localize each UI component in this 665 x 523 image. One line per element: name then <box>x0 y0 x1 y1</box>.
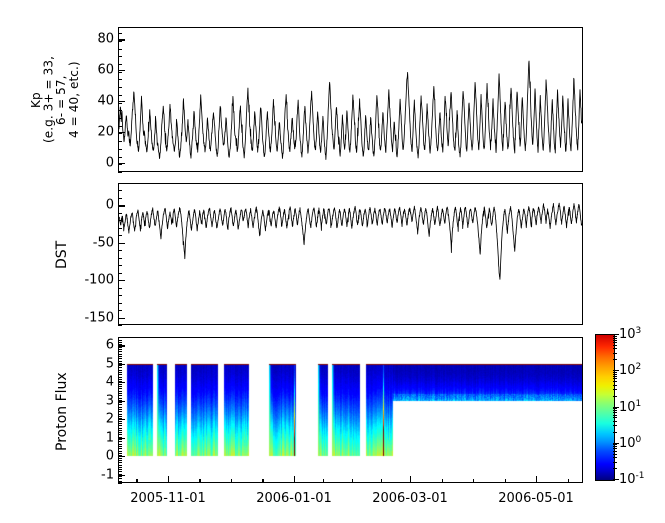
ytick-minor <box>118 110 122 111</box>
xtick-label: 2006-05-01 <box>498 491 574 506</box>
ytick-minor <box>118 103 122 104</box>
colorbar-tick-minor <box>613 385 617 386</box>
ytick-minor <box>118 198 122 199</box>
colorbar-tick-minor <box>613 340 617 341</box>
colorbar-tick-minor <box>613 359 617 360</box>
ytick-label: 2 <box>106 412 114 427</box>
proton-flux-ytick-labels: -10123456 <box>86 0 114 523</box>
xtick-mark <box>410 476 411 483</box>
ytick-minor <box>118 418 122 419</box>
figure-canvas: Kp (e.g. 3+ = 33, 6- = 57, 4 = 40, etc.)… <box>0 0 665 523</box>
colorbar-tick-minor <box>613 448 617 449</box>
ytick-minor <box>118 157 122 158</box>
ytick-minor <box>118 393 122 394</box>
ytick-label: 5 <box>106 356 114 371</box>
ytick-minor <box>118 453 122 454</box>
colorbar-tick-label: 102 <box>619 362 641 378</box>
kp-timeseries-line <box>119 28 582 171</box>
ytick-minor <box>118 303 122 304</box>
ytick-minor <box>118 358 122 359</box>
ytick-label: 6 <box>106 338 114 353</box>
colorbar-tick-minor <box>613 454 617 455</box>
ytick-minor <box>118 421 122 422</box>
ytick-minor <box>118 64 122 65</box>
ytick-minor <box>118 434 122 435</box>
colorbar-tick-minor <box>613 421 617 422</box>
ytick-minor <box>118 478 122 479</box>
colorbar-tick-minor <box>613 468 617 469</box>
xtick-label: 2006-03-01 <box>372 491 448 506</box>
colorbar-tick-minor <box>613 415 617 416</box>
ytick-minor <box>118 118 122 119</box>
ytick-minor <box>118 451 122 452</box>
ytick-minor <box>118 288 122 289</box>
colorbar-tick-minor <box>613 336 617 337</box>
ytick-minor <box>118 149 122 150</box>
colorbar-tick-minor <box>613 372 617 373</box>
ytick-minor <box>118 356 122 357</box>
ytick-minor <box>118 172 122 173</box>
ytick-label: 1 <box>106 430 114 445</box>
ytick-minor <box>118 190 122 191</box>
ytick-minor <box>118 361 122 362</box>
ytick-minor <box>118 295 122 296</box>
ytick-minor <box>118 441 122 442</box>
ytick-minor <box>118 423 122 424</box>
ytick-label: -1 <box>101 467 114 482</box>
ytick-minor <box>118 351 122 352</box>
ytick-label: 3 <box>106 393 114 408</box>
ytick-mark <box>118 280 125 281</box>
colorbar-tick-minor <box>613 462 617 463</box>
ytick-minor <box>118 79 122 80</box>
ytick-minor <box>118 49 122 50</box>
colorbar-tick-minor <box>613 432 617 433</box>
ytick-minor <box>118 347 122 348</box>
ytick-minor <box>118 250 122 251</box>
ytick-minor <box>118 72 122 73</box>
ytick-minor <box>118 370 122 371</box>
ytick-minor <box>118 409 122 410</box>
colorbar-tick-minor <box>613 412 617 413</box>
ytick-minor <box>118 220 122 221</box>
colorbar-tick-minor <box>613 342 617 343</box>
ytick-minor <box>118 400 122 401</box>
ytick-minor <box>118 476 122 477</box>
proton-flux-panel <box>118 337 583 483</box>
ytick-mark <box>118 205 125 206</box>
colorbar-tick-minor <box>613 417 617 418</box>
ytick-minor <box>118 416 122 417</box>
ytick-minor <box>118 344 122 345</box>
ytick-minor <box>118 455 122 456</box>
colorbar-tick-minor <box>613 425 617 426</box>
ytick-label: 0 <box>106 449 114 464</box>
ytick-minor <box>118 411 122 412</box>
colorbar-tick-minor <box>613 457 617 458</box>
dst-panel <box>118 183 583 325</box>
colorbar-tick-minor <box>613 338 617 339</box>
ytick-minor <box>118 465 122 466</box>
dst-trace-container <box>119 184 582 324</box>
ytick-minor <box>118 258 122 259</box>
colorbar-tick-label: 100 <box>619 435 641 451</box>
ytick-minor <box>118 384 122 385</box>
xtick-label: 2006-01-01 <box>256 491 332 506</box>
xtick-minor <box>442 479 443 483</box>
ytick-minor <box>118 133 122 134</box>
ytick-mark <box>118 318 125 319</box>
ytick-minor <box>118 354 122 355</box>
colorbar-tick-minor <box>613 396 617 397</box>
xtick-minor <box>473 479 474 483</box>
ytick-minor <box>118 432 122 433</box>
kp-panel <box>118 27 583 172</box>
ytick-minor <box>118 235 122 236</box>
ytick-minor <box>118 402 122 403</box>
ytick-minor <box>118 386 122 387</box>
ytick-minor <box>118 471 122 472</box>
xtick-minor <box>199 479 200 483</box>
colorbar-tick-minor <box>613 389 617 390</box>
ytick-minor <box>118 414 122 415</box>
dst-timeseries-line <box>119 184 582 324</box>
ytick-minor <box>118 437 122 438</box>
proton-flux-axis-label: Proton Flux <box>55 352 77 472</box>
colorbar-tick-label: 103 <box>619 326 641 342</box>
ytick-minor <box>118 467 122 468</box>
colorbar-tick-minor <box>613 410 617 411</box>
ytick-minor <box>118 365 122 366</box>
xtick-label: 2005-11-01 <box>130 491 206 506</box>
ytick-minor <box>118 228 122 229</box>
ytick-minor <box>118 87 122 88</box>
ytick-minor <box>118 428 122 429</box>
ytick-mark <box>118 243 125 244</box>
colorbar-tick-label: 101 <box>619 398 641 414</box>
xtick-minor <box>136 479 137 483</box>
ytick-minor <box>118 407 122 408</box>
ytick-minor <box>118 391 122 392</box>
ytick-minor <box>118 164 122 165</box>
ytick-minor <box>118 342 122 343</box>
colorbar-tick-label: 10-1 <box>619 471 645 487</box>
xtick-mark <box>536 476 537 483</box>
ytick-minor <box>118 95 122 96</box>
ytick-minor <box>118 469 122 470</box>
ytick-minor <box>118 458 122 459</box>
ytick-minor <box>118 265 122 266</box>
colorbar-tick-minor <box>613 378 617 379</box>
ytick-minor <box>118 56 122 57</box>
xtick-minor <box>323 479 324 483</box>
ytick-minor <box>118 126 122 127</box>
ytick-minor <box>118 310 122 311</box>
colorbar-tick-minor <box>613 353 617 354</box>
ytick-minor <box>118 141 122 142</box>
ytick-minor <box>118 367 122 368</box>
colorbar-tick-minor <box>613 381 617 382</box>
ytick-minor <box>118 381 122 382</box>
xtick-mark <box>168 476 169 483</box>
ytick-minor <box>118 183 122 184</box>
ytick-label: 4 <box>106 375 114 390</box>
ytick-minor <box>118 340 122 341</box>
colorbar-tick-minor <box>613 345 617 346</box>
ytick-minor <box>118 404 122 405</box>
colorbar-tick-minor <box>613 444 617 445</box>
ytick-minor <box>118 337 122 338</box>
kp-trace-container <box>119 28 582 171</box>
ytick-minor <box>118 474 122 475</box>
ytick-minor <box>118 374 122 375</box>
ytick-minor <box>118 372 122 373</box>
ytick-minor <box>118 363 122 364</box>
colorbar-tick-minor <box>613 451 617 452</box>
ytick-minor <box>118 395 122 396</box>
ytick-minor <box>118 444 122 445</box>
ytick-minor <box>118 349 122 350</box>
xtick-minor <box>352 479 353 483</box>
ytick-minor <box>118 398 122 399</box>
ytick-minor <box>118 481 122 482</box>
xtick-minor <box>381 479 382 483</box>
ytick-minor <box>118 377 122 378</box>
ytick-minor <box>118 325 122 326</box>
ytick-minor <box>118 41 122 42</box>
ytick-minor <box>118 446 122 447</box>
xtick-minor <box>505 479 506 483</box>
colorbar-tick-minor <box>613 376 617 377</box>
colorbar-gradient <box>595 334 615 481</box>
ytick-minor <box>118 213 122 214</box>
ytick-minor <box>118 388 122 389</box>
proton-flux-spectrogram <box>119 338 582 482</box>
ytick-minor <box>118 425 122 426</box>
colorbar-tick-minor <box>613 446 617 447</box>
ytick-minor <box>118 33 122 34</box>
ytick-minor <box>118 439 122 440</box>
xtick-minor <box>568 479 569 483</box>
colorbar-tick-minor <box>613 374 617 375</box>
xtick-minor <box>262 479 263 483</box>
ytick-minor <box>118 460 122 461</box>
xtick-minor <box>231 479 232 483</box>
ytick-minor <box>118 273 122 274</box>
ytick-minor <box>118 483 122 484</box>
ytick-minor <box>118 448 122 449</box>
ytick-minor <box>118 462 122 463</box>
ytick-minor <box>118 379 122 380</box>
colorbar-tick-minor <box>613 348 617 349</box>
xtick-mark <box>294 476 295 483</box>
ytick-minor <box>118 430 122 431</box>
colorbar-tick-minor <box>613 408 617 409</box>
